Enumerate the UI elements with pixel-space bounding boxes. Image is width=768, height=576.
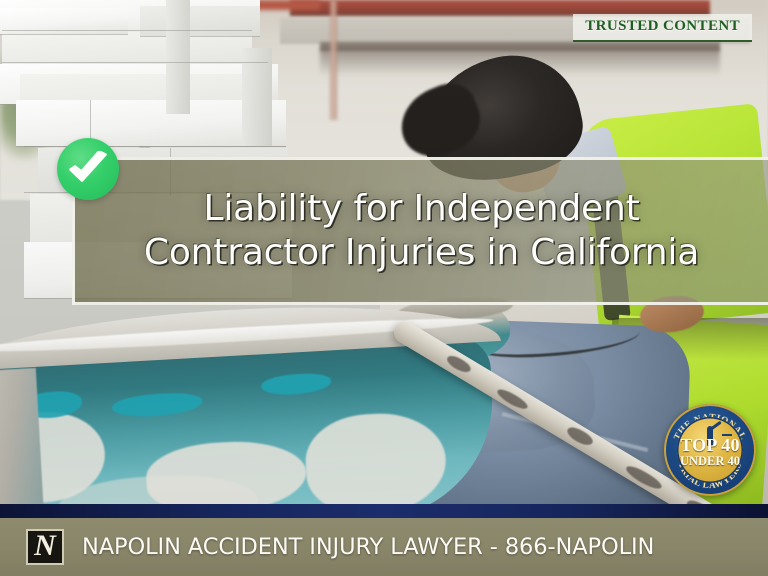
top-40-under-40-award-badge: THE NATIONAL TRIAL LAWYERS TOP 40 UNDER … bbox=[664, 404, 756, 496]
footer-firm-text: NAPOLIN ACCIDENT INJURY LAWYER - 866-NAP… bbox=[82, 534, 654, 560]
green-check-icon bbox=[57, 138, 119, 200]
banner-image: TRUSTED CONTENT Liability for Independen… bbox=[0, 0, 768, 576]
wheelbarrow bbox=[0, 300, 520, 530]
title-overlay-panel: Liability for Independent Contractor Inj… bbox=[72, 157, 768, 305]
napolin-logo-icon: N bbox=[26, 529, 64, 565]
title-line-1: Liability for Independent bbox=[204, 188, 640, 230]
award-main-text: TOP 40 bbox=[664, 435, 756, 456]
footer-bar: N NAPOLIN ACCIDENT INJURY LAWYER - 866-N… bbox=[0, 518, 768, 576]
award-sub-text: UNDER 40 bbox=[664, 454, 756, 469]
napolin-logo-letter: N bbox=[34, 531, 56, 561]
title-line-2: Contractor Injuries in California bbox=[144, 232, 699, 274]
trusted-content-badge: TRUSTED CONTENT bbox=[573, 14, 752, 42]
navy-divider-strip bbox=[0, 504, 768, 518]
background-post-center bbox=[330, 0, 337, 120]
